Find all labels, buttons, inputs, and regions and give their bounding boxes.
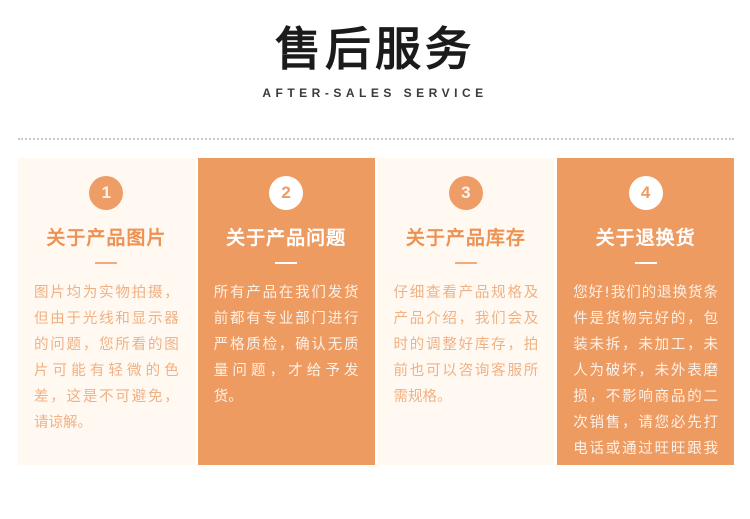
card-body-4: 您好!我们的退换货条件是货物完好的，包装未拆，未加工，未人为破坏，未外表磨损，不…	[573, 280, 718, 465]
card-dash-3	[455, 262, 477, 264]
card-body-1: 图片均为实物拍摄，但由于光线和显示器的问题，您所看的图片可能有轻微的色差，这是不…	[34, 280, 179, 436]
card-title-3: 关于产品库存	[394, 226, 539, 250]
card-dash-1	[95, 262, 117, 264]
header-divider	[18, 138, 734, 140]
card-title-4: 关于退换货	[573, 226, 718, 250]
card-dash-4	[635, 262, 657, 264]
page-header: 售后服务 AFTER-SALES SERVICE	[0, 22, 750, 100]
card-number-badge-1: 1	[89, 176, 123, 210]
page-title-en: AFTER-SALES SERVICE	[0, 86, 750, 100]
service-card-2: 2 关于产品问题 所有产品在我们发货前都有专业部门进行严格质检，确认无质量问题，…	[198, 158, 375, 465]
card-title-2: 关于产品问题	[214, 226, 359, 250]
card-number-badge-2: 2	[269, 176, 303, 210]
service-card-1: 1 关于产品图片 图片均为实物拍摄，但由于光线和显示器的问题，您所看的图片可能有…	[18, 158, 195, 465]
card-dash-2	[275, 262, 297, 264]
after-sales-service-page: 售后服务 AFTER-SALES SERVICE 1 关于产品图片 图片均为实物…	[0, 0, 750, 519]
card-number-badge-4: 4	[629, 176, 663, 210]
service-card-3: 3 关于产品库存 仔细查看产品规格及产品介绍，我们会及时的调整好库存，拍前也可以…	[378, 158, 555, 465]
card-body-3: 仔细查看产品规格及产品介绍，我们会及时的调整好库存，拍前也可以咨询客服所需规格。	[394, 280, 539, 410]
card-title-1: 关于产品图片	[34, 226, 179, 250]
card-body-2: 所有产品在我们发货前都有专业部门进行严格质检，确认无质量问题，才给予发货。	[214, 280, 359, 410]
service-card-4: 4 关于退换货 您好!我们的退换货条件是货物完好的，包装未拆，未加工，未人为破坏…	[557, 158, 734, 465]
service-cards-row: 1 关于产品图片 图片均为实物拍摄，但由于光线和显示器的问题，您所看的图片可能有…	[18, 158, 734, 465]
card-number-badge-3: 3	[449, 176, 483, 210]
page-title-cn: 售后服务	[0, 22, 750, 76]
